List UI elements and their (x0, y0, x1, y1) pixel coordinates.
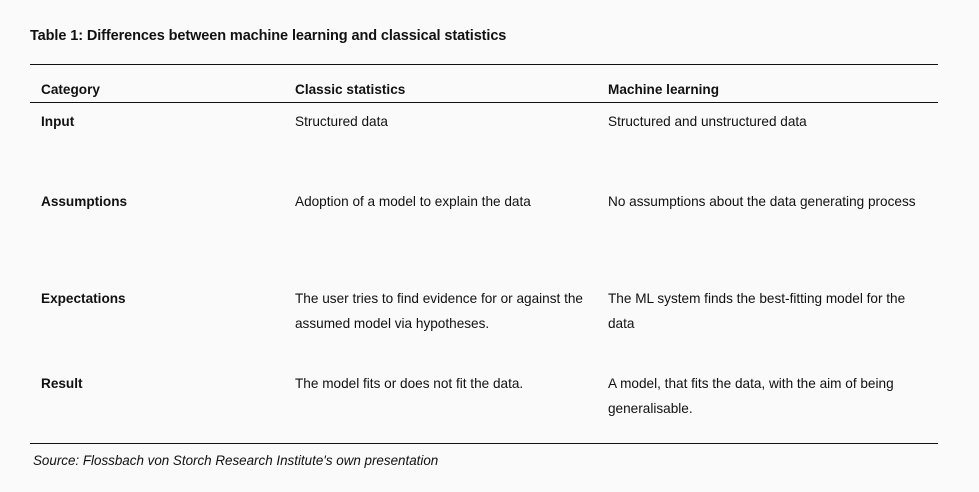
row-label-expectations: Expectations (41, 286, 281, 311)
cell-result-classic: The model fits or does not fit the data. (295, 371, 583, 396)
row-label-input: Input (41, 109, 281, 134)
column-header-classic-statistics: Classic statistics (295, 77, 405, 102)
source-note: Source: Flossbach von Storch Research In… (33, 452, 438, 470)
cell-expectations-classic: The user tries to find evidence for or a… (295, 286, 583, 336)
table-caption: Table 1: Differences between machine lea… (30, 27, 506, 45)
cell-assumptions-ml: No assumptions about the data generating… (608, 189, 932, 214)
table-rule-header (30, 102, 938, 103)
column-header-category: Category (41, 77, 281, 102)
cell-result-ml: A model, that fits the data, with the ai… (608, 371, 932, 421)
cell-input-ml: Structured and unstructured data (608, 109, 932, 134)
table-rule-top (30, 64, 938, 65)
table-rule-bottom (30, 443, 938, 444)
cell-input-classic: Structured data (295, 109, 583, 134)
cell-expectations-ml: The ML system finds the best-fitting mod… (608, 286, 932, 336)
row-label-result: Result (41, 371, 281, 396)
row-label-assumptions: Assumptions (41, 189, 281, 214)
cell-assumptions-classic: Adoption of a model to explain the data (295, 189, 583, 214)
table-figure: Table 1: Differences between machine lea… (0, 0, 979, 492)
column-header-machine-learning: Machine learning (608, 77, 719, 102)
